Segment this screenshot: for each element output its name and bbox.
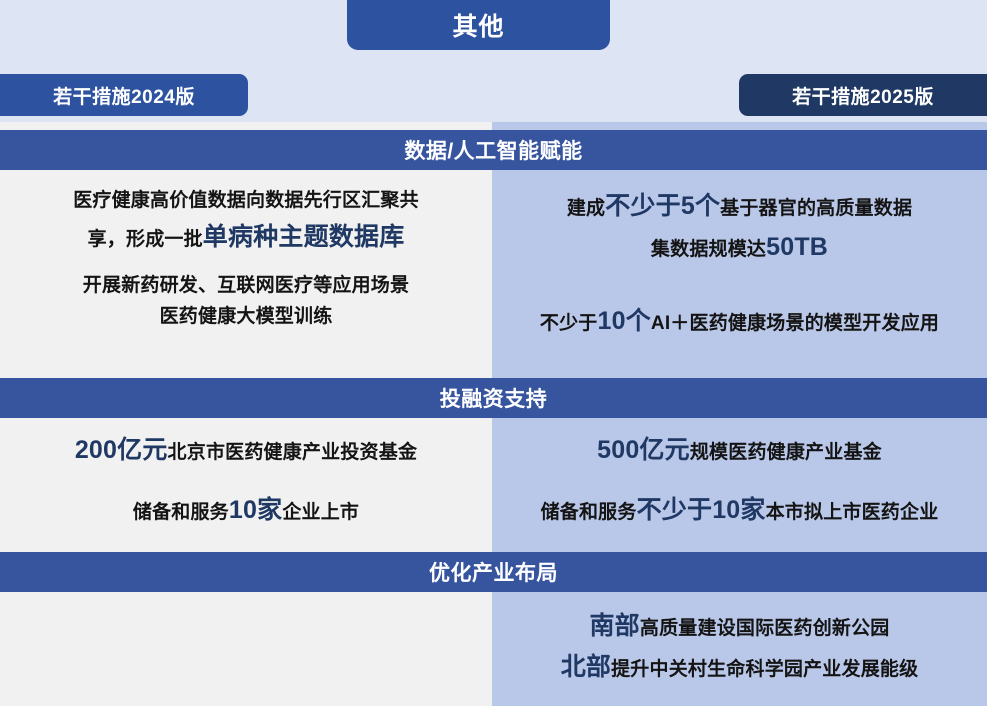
text-highlight: 10个: [597, 307, 650, 335]
text-line: 建成不少于5个基于器官的高质量数据: [508, 186, 971, 227]
section-header-investment: 投融资支持: [0, 378, 987, 418]
text-plain: 北京市医药健康产业投资基金: [168, 442, 418, 463]
text-plain: 企业上市: [282, 502, 359, 523]
text-highlight: 500亿元: [597, 436, 690, 464]
text-line: 集数据规模达50TB: [508, 227, 971, 268]
section-2-left-content: 200亿元北京市医药健康产业投资基金 储备和服务10家企业上市: [0, 432, 492, 529]
text-plain: 规模医药健康产业基金: [690, 442, 882, 463]
paragraph-gap: [16, 470, 476, 492]
page-title: 其他: [347, 0, 610, 50]
text-line: 储备和服务10家企业上市: [16, 492, 476, 530]
text-highlight: 10家: [229, 496, 282, 524]
text-line: 北部提升中关村生命科学园产业发展能级: [508, 647, 971, 688]
text-plain: 集数据规模达: [651, 239, 766, 260]
section-1-left-content: 医疗健康高价值数据向数据先行区汇聚共 享，形成一批单病种主题数据库 开展新药研发…: [0, 186, 492, 333]
text-plain: 储备和服务: [541, 502, 637, 523]
text-highlight: 北部: [561, 653, 611, 681]
text-line: 医疗健康高价值数据向数据先行区汇聚共: [16, 186, 476, 217]
text-line: 南部高质量建设国际医药创新公园: [508, 606, 971, 647]
text-highlight: 不少于10家: [637, 496, 766, 524]
text-plain: 储备和服务: [133, 502, 229, 523]
text-plain: 高质量建设国际医药创新公园: [640, 618, 890, 639]
paragraph-gap: [508, 470, 971, 492]
paragraph-gap: [508, 267, 971, 301]
section-header-industry-layout: 优化产业布局: [0, 552, 987, 592]
text-highlight: 200亿元: [75, 436, 168, 464]
badge-version-2024: 若干措施2024版: [0, 74, 248, 116]
text-plain: 本市拟上市医药企业: [766, 502, 939, 523]
text-line: 享，形成一批单病种主题数据库: [16, 217, 476, 258]
text-plain: 享，形成一批: [88, 229, 203, 250]
text-line: 医药健康大模型训练: [16, 302, 476, 333]
text-plain: 建成: [567, 198, 605, 219]
section-1-right-content: 建成不少于5个基于器官的高质量数据 集数据规模达50TB 不少于10个AI＋医药…: [492, 186, 987, 342]
text-plain: 提升中关村生命科学园产业发展能级: [611, 659, 918, 680]
text-plain: 不少于: [540, 313, 598, 334]
text-line: 储备和服务不少于10家本市拟上市医药企业: [508, 492, 971, 530]
paragraph-gap: [16, 257, 476, 271]
text-line: 200亿元北京市医药健康产业投资基金: [16, 432, 476, 470]
text-highlight: 不少于5个: [605, 192, 720, 220]
text-plain: AI＋医药健康场景的模型开发应用: [651, 313, 939, 334]
text-highlight: 南部: [589, 612, 639, 640]
badge-version-2025: 若干措施2025版: [739, 74, 987, 116]
section-3-right-content: 南部高质量建设国际医药创新公园 北部提升中关村生命科学园产业发展能级: [492, 606, 987, 687]
text-highlight: 单病种主题数据库: [203, 223, 405, 251]
text-plain: 基于器官的高质量数据: [720, 198, 912, 219]
text-line: 开展新药研发、互联网医疗等应用场景: [16, 271, 476, 302]
section-2-right-content: 500亿元规模医药健康产业基金 储备和服务不少于10家本市拟上市医药企业: [492, 432, 987, 529]
text-line: 500亿元规模医药健康产业基金: [508, 432, 971, 470]
section-header-data-ai: 数据/人工智能赋能: [0, 130, 987, 170]
text-line: 不少于10个AI＋医药健康场景的模型开发应用: [508, 301, 971, 342]
comparison-infographic: 其他 若干措施2024版 若干措施2025版 数据/人工智能赋能 医疗健康高价值…: [0, 0, 987, 706]
text-highlight: 50TB: [766, 233, 828, 261]
